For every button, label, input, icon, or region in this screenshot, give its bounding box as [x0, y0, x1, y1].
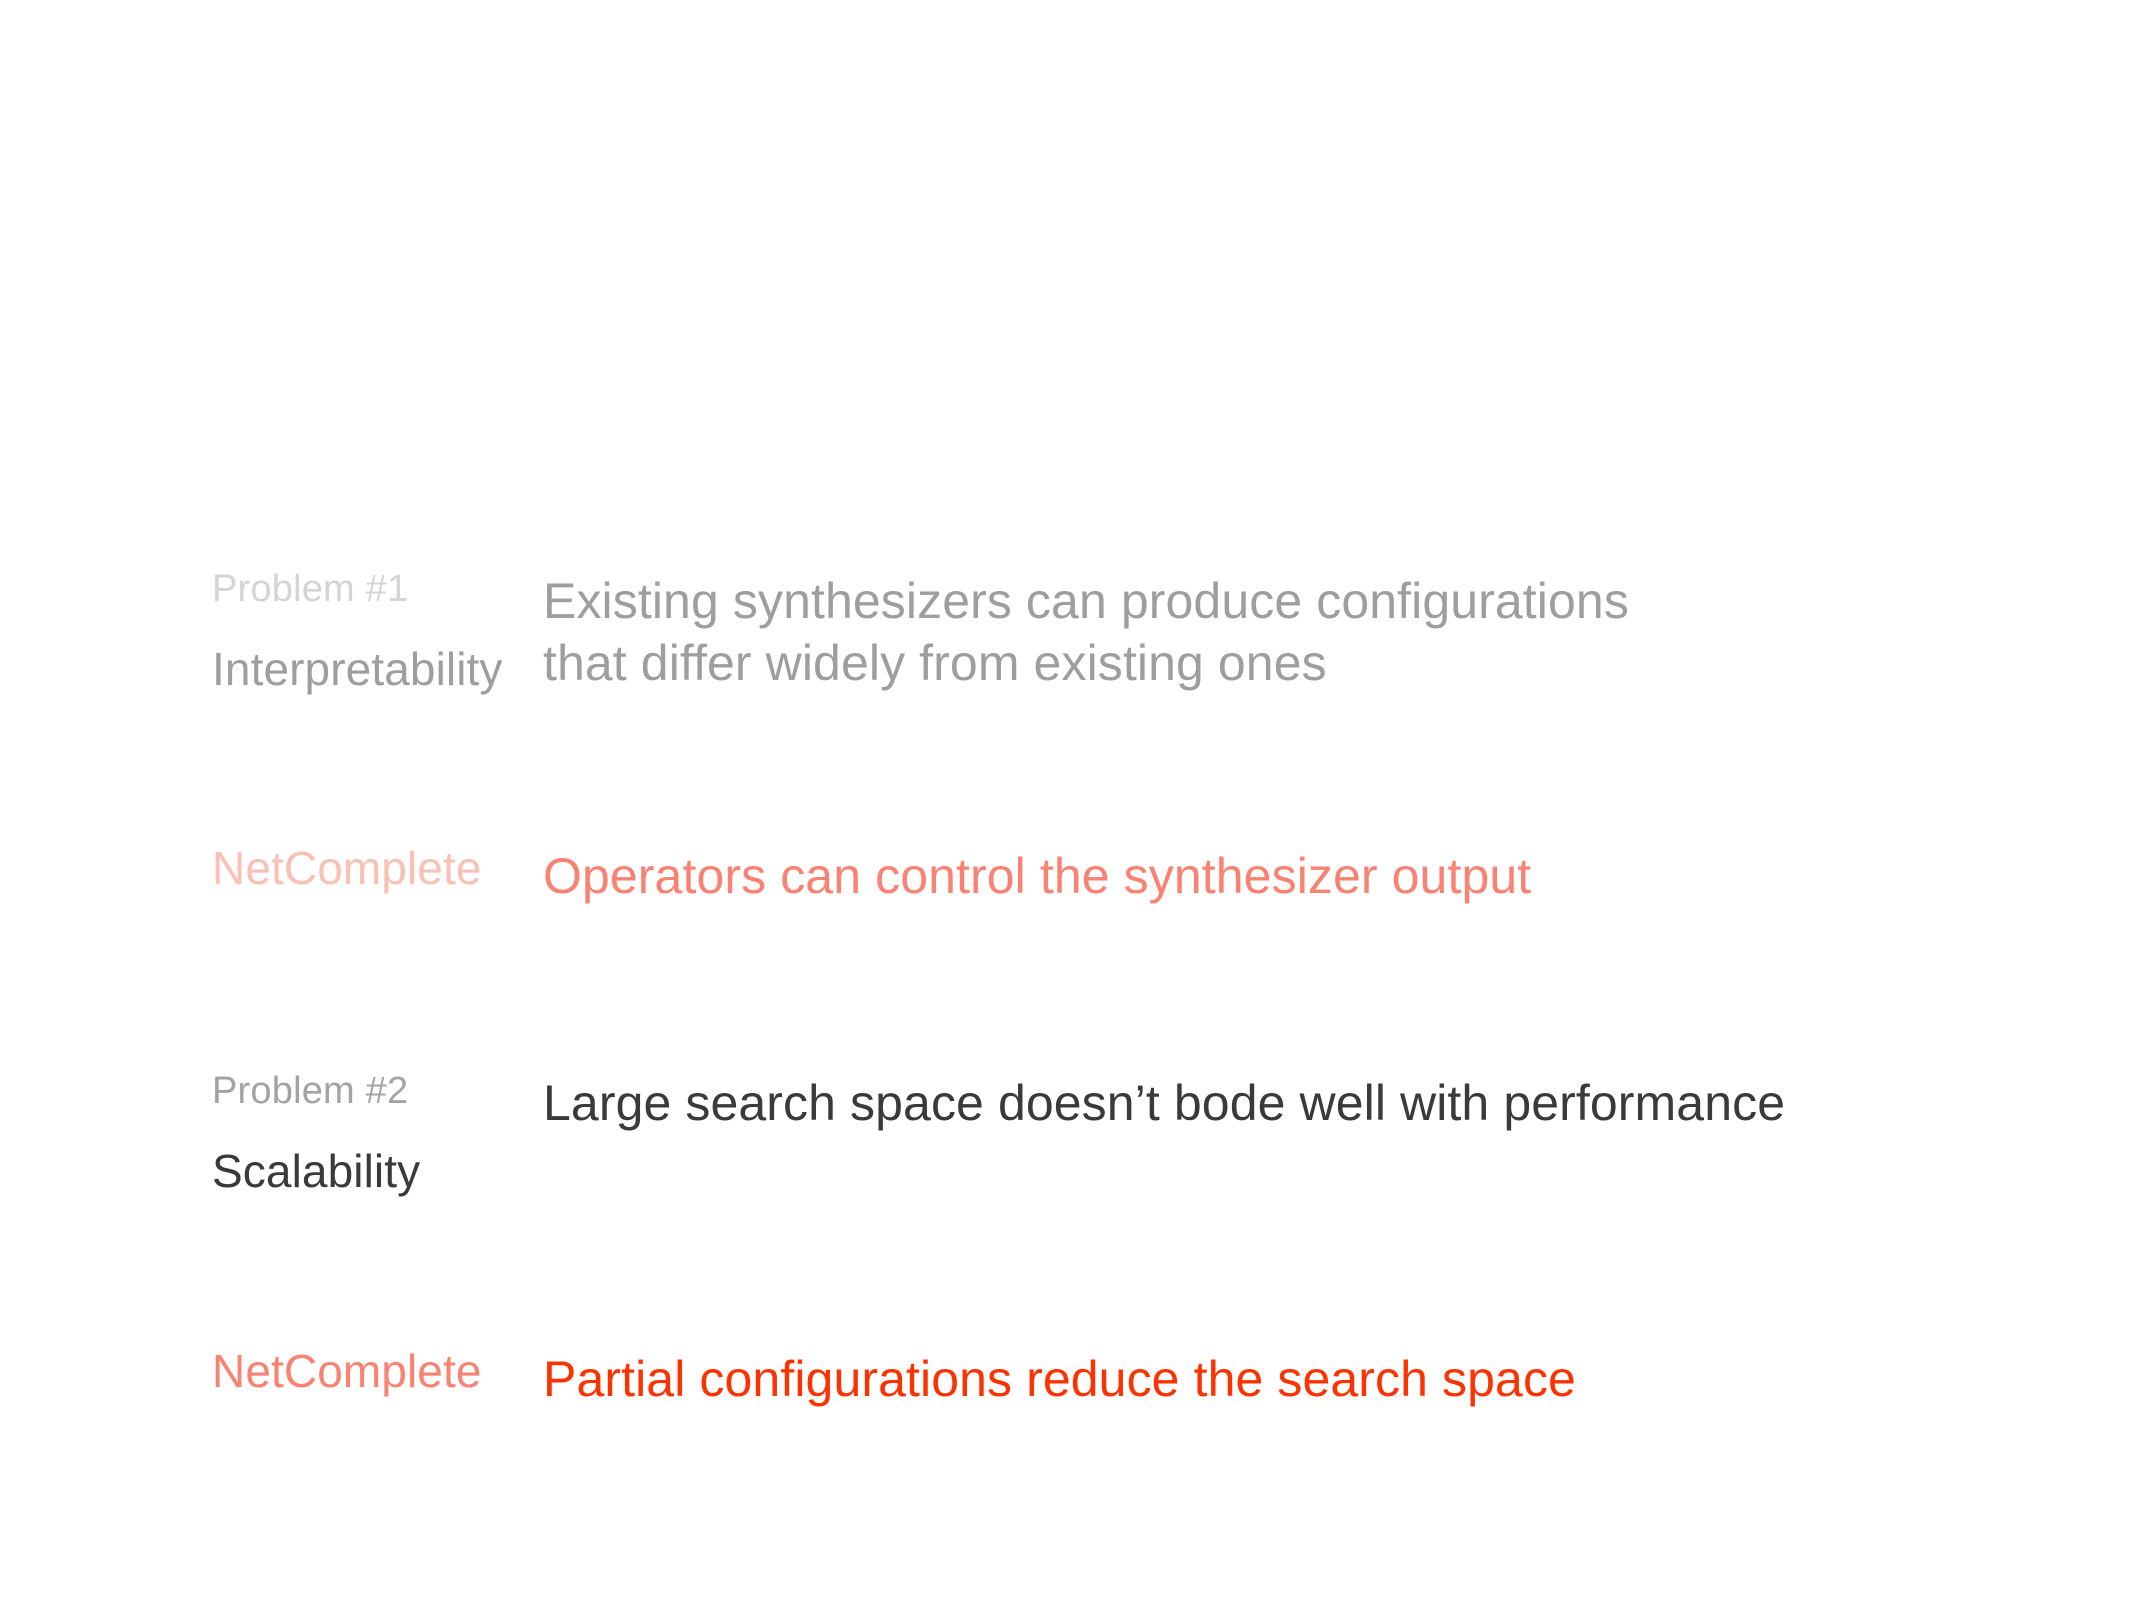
problem-2-left-column: Problem #2 Scalability [0, 1072, 543, 1194]
slide-canvas: Problem #1 Interpretability Existing syn… [0, 0, 2134, 1600]
answer-1-statement: Operators can control the synthesizer ou… [543, 845, 2134, 907]
answer-2-brand-label: NetComplete [212, 1348, 543, 1394]
problem-1-statement-line-2: that differ widely from existing ones [543, 632, 2134, 694]
problem-2-statement-line-1: Large search space doesn’t bode well wit… [543, 1072, 2134, 1134]
answer-1-left-column: NetComplete [0, 845, 543, 891]
problem-2-kicker: Problem #2 [212, 1072, 543, 1110]
problem-2-statement: Large search space doesn’t bode well wit… [543, 1072, 2134, 1134]
answer-2-left-column: NetComplete [0, 1348, 543, 1394]
problem-1-statement-line-1: Existing synthesizers can produce config… [543, 570, 2134, 632]
problem-2-title: Scalability [212, 1148, 543, 1194]
row-answer-2: NetComplete Partial configurations reduc… [0, 1348, 2134, 1410]
problem-1-title: Interpretability [212, 646, 543, 692]
answer-2-statement-line-1: Partial configurations reduce the search… [543, 1348, 2134, 1410]
problem-1-statement: Existing synthesizers can produce config… [543, 570, 2134, 694]
problem-1-left-column: Problem #1 Interpretability [0, 570, 543, 692]
row-problem-2: Problem #2 Scalability Large search spac… [0, 1072, 2134, 1194]
row-answer-1: NetComplete Operators can control the sy… [0, 845, 2134, 907]
problem-2-right-column: Large search space doesn’t bode well wit… [543, 1072, 2134, 1134]
problem-1-kicker: Problem #1 [212, 570, 543, 608]
content-rows: Problem #1 Interpretability Existing syn… [0, 0, 2134, 1600]
problem-1-right-column: Existing synthesizers can produce config… [543, 570, 2134, 694]
answer-2-right-column: Partial configurations reduce the search… [543, 1348, 2134, 1410]
answer-2-statement: Partial configurations reduce the search… [543, 1348, 2134, 1410]
answer-1-brand-label: NetComplete [212, 845, 543, 891]
answer-1-right-column: Operators can control the synthesizer ou… [543, 845, 2134, 907]
answer-1-statement-line-1: Operators can control the synthesizer ou… [543, 845, 2134, 907]
row-problem-1: Problem #1 Interpretability Existing syn… [0, 570, 2134, 694]
